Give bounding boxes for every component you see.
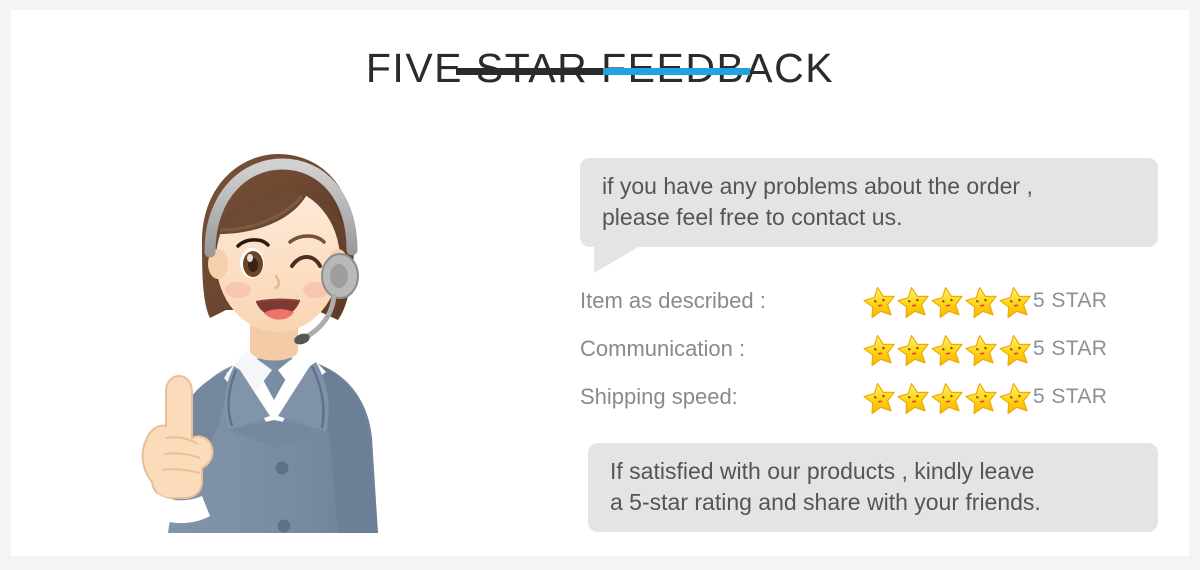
satisfaction-bubble-line-2: a 5-star rating and share with your frie…: [610, 487, 1138, 518]
title-underline-dark-segment: [456, 68, 603, 75]
star-icon: [999, 333, 1032, 366]
customer-service-illustration: [106, 138, 446, 543]
star-icon: [965, 285, 998, 318]
rating-row-communication: Communication : 5 STAR: [580, 325, 1165, 373]
title-underline-blue-segment: [603, 68, 750, 75]
star-icon: [863, 381, 896, 414]
rating-value: 5 STAR: [1033, 289, 1107, 313]
contact-bubble-line-1: if you have any problems about the order…: [602, 171, 1138, 202]
feedback-banner: FIVE STAR FEEDBACK: [0, 0, 1200, 570]
rating-label: Communication :: [580, 336, 863, 362]
star-icon: [999, 381, 1032, 414]
rating-row-shipping-speed: Shipping speed: 5 STAR: [580, 373, 1165, 421]
star-icon: [931, 285, 964, 318]
star-icon: [999, 285, 1032, 318]
star-icon: [863, 333, 896, 366]
star-rating-group: [863, 285, 1033, 318]
rating-value: 5 STAR: [1033, 385, 1107, 409]
rating-value: 5 STAR: [1033, 337, 1107, 361]
star-icon: [897, 381, 930, 414]
ratings-list: Item as described : 5 STAR Communication…: [580, 277, 1165, 421]
contact-speech-bubble: if you have any problems about the order…: [580, 158, 1158, 247]
rating-label: Shipping speed:: [580, 384, 863, 410]
contact-bubble-line-2: please feel free to contact us.: [602, 202, 1138, 233]
white-card: FIVE STAR FEEDBACK: [11, 10, 1189, 556]
speech-bubble-tail: [594, 246, 640, 273]
satisfaction-message-bubble: If satisfied with our products , kindly …: [588, 443, 1158, 532]
suit-button-top: [276, 462, 289, 475]
star-icon: [897, 285, 930, 318]
rating-row-item-as-described: Item as described : 5 STAR: [580, 277, 1165, 325]
star-icon: [965, 333, 998, 366]
star-rating-group: [863, 381, 1033, 414]
star-icon: [863, 285, 896, 318]
star-icon: [931, 333, 964, 366]
satisfaction-bubble-line-1: If satisfied with our products , kindly …: [610, 456, 1138, 487]
star-icon: [897, 333, 930, 366]
star-icon: [965, 381, 998, 414]
suit-button-bottom: [278, 520, 291, 533]
rating-label: Item as described :: [580, 288, 863, 314]
feedback-content: if you have any problems about the order…: [580, 158, 1165, 247]
star-icon: [931, 381, 964, 414]
star-rating-group: [863, 333, 1033, 366]
title-underline: [456, 68, 750, 75]
